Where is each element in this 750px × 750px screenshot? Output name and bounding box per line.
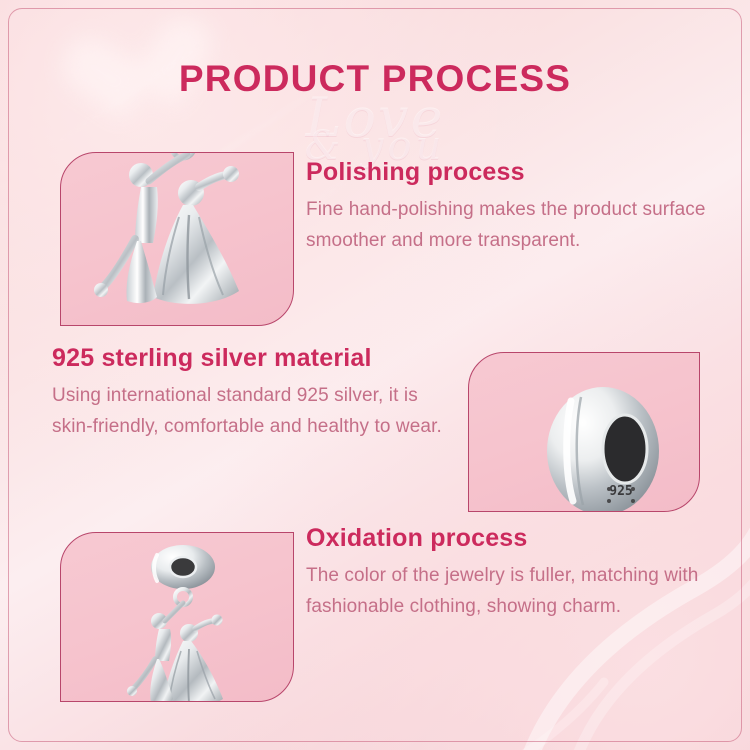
section-body: Using international standard 925 silver,… <box>52 381 452 443</box>
infographic-canvas: Love & you PRODUCT PROCESS <box>0 0 750 750</box>
section-heading: 925 sterling silver material <box>52 344 452 373</box>
dancing-couple-pendant-image <box>79 153 279 325</box>
section-body: The color of the jewelry is fuller, matc… <box>306 561 706 623</box>
product-image-frame-oxidation <box>60 532 294 702</box>
section-body: Fine hand-polishing makes the product su… <box>306 195 706 257</box>
section-heading: Polishing process <box>306 158 706 187</box>
dancing-couple-charm-image <box>113 541 253 701</box>
hallmark-925-text: 925 <box>609 484 632 499</box>
section-text-polishing: Polishing process Fine hand-polishing ma… <box>306 158 706 257</box>
silver-bead-bail-image: 925 <box>529 371 679 511</box>
section-text-oxidation: Oxidation process The color of the jewel… <box>306 524 706 623</box>
section-text-material: 925 sterling silver material Using inter… <box>52 344 452 443</box>
product-image-frame-material: 925 <box>468 352 700 512</box>
page-title: PRODUCT PROCESS <box>0 58 750 100</box>
product-image-frame-polishing <box>60 152 294 326</box>
section-heading: Oxidation process <box>306 524 706 553</box>
